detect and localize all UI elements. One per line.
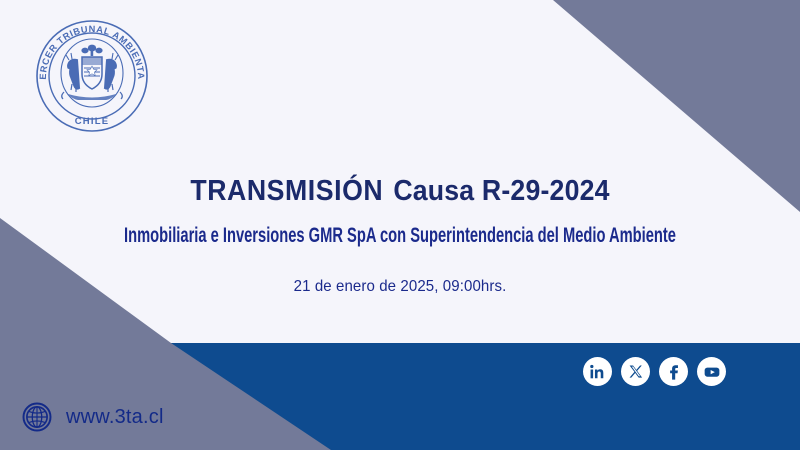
crest-plume: [81, 45, 102, 56]
social-links: [583, 357, 726, 386]
case-parties-subtitle: Inmobiliaria e Inversiones GMR SpA con S…: [120, 224, 680, 248]
social-link-youtube[interactable]: [697, 357, 726, 386]
youtube-icon: [703, 363, 721, 381]
website-link[interactable]: www.3ta.cl: [22, 402, 164, 432]
social-link-x[interactable]: [621, 357, 650, 386]
coat-of-arms: [62, 45, 123, 100]
broadcast-title-card: TERCER TRIBUNAL AMBIENTAL CHILE: [0, 0, 800, 450]
social-link-facebook[interactable]: [659, 357, 688, 386]
globe-icon: [22, 402, 52, 432]
hearing-datetime: 21 de enero de 2025, 09:00hrs.: [24, 278, 776, 296]
title-kind: TRANSMISIÓN: [190, 175, 383, 207]
facebook-icon: [665, 363, 682, 380]
title-text-block: TRANSMISIÓNCausa R-29-2024 Inmobiliaria …: [0, 176, 800, 296]
title-case-number: Causa R-29-2024: [393, 175, 609, 207]
base-scroll: [62, 92, 123, 100]
seal-bottom-text: CHILE: [75, 116, 110, 127]
shield: [82, 57, 102, 89]
seal-graphic: TERCER TRIBUNAL AMBIENTAL CHILE: [28, 12, 156, 140]
social-link-linkedin[interactable]: [583, 357, 612, 386]
huemul-supporter: [66, 53, 80, 92]
institution-logo: TERCER TRIBUNAL AMBIENTAL CHILE: [28, 12, 156, 140]
website-url-text: www.3ta.cl: [66, 406, 164, 429]
page-title: TRANSMISIÓNCausa R-29-2024: [32, 176, 768, 208]
linkedin-icon: [589, 363, 606, 380]
x-twitter-icon: [628, 364, 644, 380]
condor-supporter: [104, 53, 118, 92]
